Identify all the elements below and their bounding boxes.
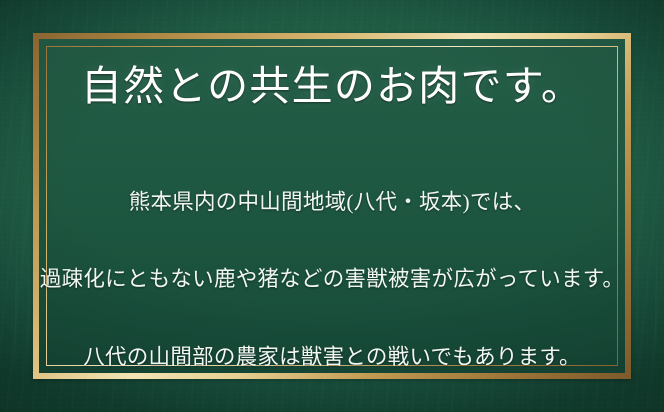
- body-line-1: 熊本県内の中山間地域(八代・坂本)では、: [129, 185, 535, 220]
- banner-body: 熊本県内の中山間地域(八代・坂本)では、 過疎化にともない鹿や猪などの害獣被害が…: [40, 163, 624, 412]
- body-line-3: 八代の山間部の農家は獣害との戦いでもあります。: [83, 340, 580, 375]
- banner-canvas: 自然との共生のお肉です。 熊本県内の中山間地域(八代・坂本)では、 過疎化にとも…: [0, 0, 664, 412]
- body-line-2: 過疎化にともない鹿や猪などの害獣被害が広がっています。: [40, 262, 624, 297]
- banner-content: 自然との共生のお肉です。 熊本県内の中山間地域(八代・坂本)では、 過疎化にとも…: [46, 46, 618, 366]
- banner-title: 自然との共生のお肉です。: [81, 64, 583, 110]
